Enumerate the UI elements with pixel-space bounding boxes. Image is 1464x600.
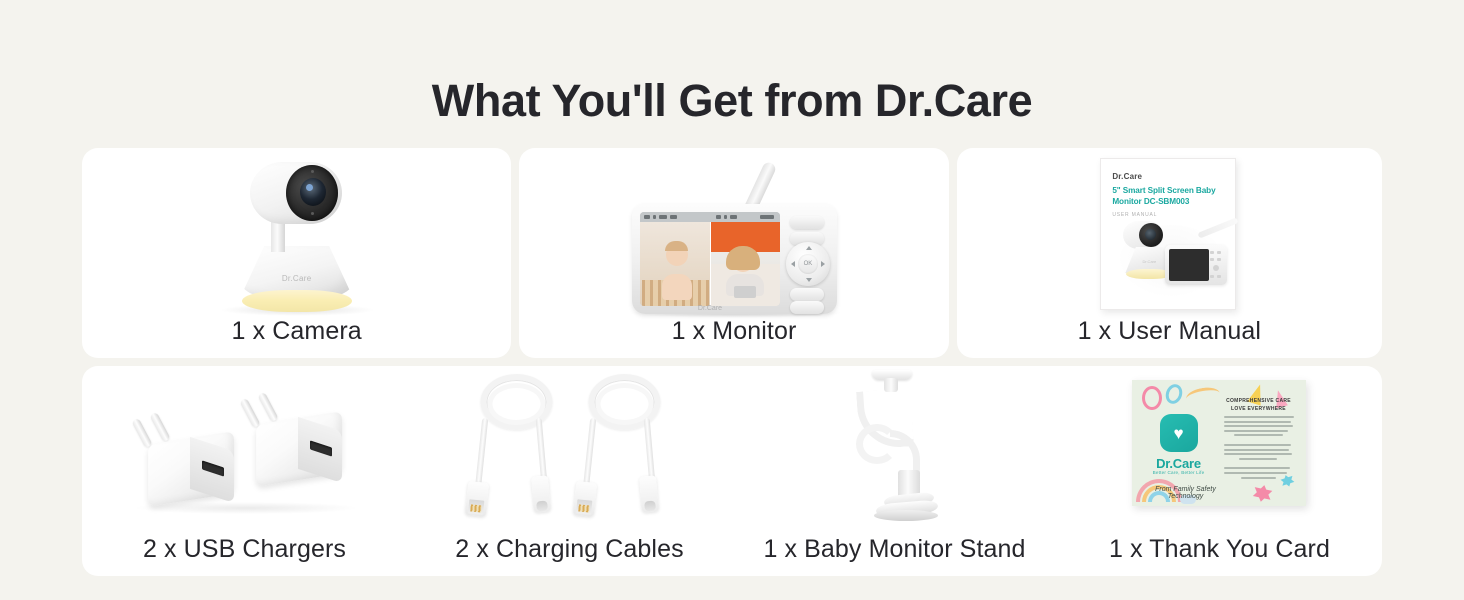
usb-gold-contacts [470,504,482,512]
manual-camera-lens [1139,223,1163,247]
user-manual-illustration: Dr.Care 5" Smart Split Screen Baby Monit… [957,148,1382,317]
balloon-doodle-icon [1142,386,1162,410]
cable-run-right [535,418,547,484]
camera-mic-dot [311,170,314,173]
product-card-accessories: 2 x USB Chargers [82,366,1382,576]
monitor-brand-label: Dr.Care [640,305,780,312]
cable-run-left [474,418,487,490]
product-card-monitor[interactable]: Dr.Care OK 1 x Monitor [519,148,948,358]
monitor-illustration: Dr.Care OK [519,148,948,317]
star-doodle-icon [1252,483,1272,499]
thank-you-card-headline: COMPREHENSIVE CARE LOVE EVERYWHERE [1220,398,1298,413]
usb-c-connector [638,475,658,512]
thank-you-card-illustration: ♥ Dr.Care Better Care, Better Life From … [1057,366,1382,535]
caption-camera: 1 x Camera [232,317,362,358]
caption-usb-chargers: 2 x USB Chargers [143,535,346,576]
battery-icon-2 [724,215,727,219]
tablet-prop [734,286,756,298]
manual-monitor-buttons [1210,251,1223,279]
manual-monitor-antenna [1198,217,1239,238]
cable-run-right [643,418,655,484]
monitor-button-menu[interactable] [790,216,824,229]
signal-icon-2 [716,215,721,219]
usb-charger-1 [130,410,234,506]
child-hair [726,246,760,270]
camera-brand-label: Dr.Care [212,274,382,283]
thank-you-card-body-text [1224,416,1294,481]
charging-cables-illustration [407,366,732,535]
manual-camera-head [1123,221,1163,249]
charging-cable-2 [570,372,670,522]
usb-gold-contacts [578,504,590,512]
monitor-feed-left [640,222,710,306]
baby-body [662,274,692,300]
plug-prong-icon [239,398,260,428]
dpad-right-icon[interactable] [821,261,825,267]
clock-readout [760,215,774,219]
manual-monitor [1165,245,1227,285]
signal-icon [644,215,650,219]
dr-care-app-icon: ♥ [1160,414,1198,452]
squiggle-doodle-icon [1184,385,1220,407]
cable-run-left [582,418,595,490]
baby-hair [665,241,688,251]
product-card-user-manual[interactable]: Dr.Care 5" Smart Split Screen Baby Monit… [957,148,1382,358]
screen-divider [710,222,711,306]
dpad-left-icon[interactable] [791,261,795,267]
camera-sensor-dot [311,212,314,215]
usb-charger-2 [238,390,342,486]
manual-brand-label: Dr.Care [1112,172,1142,181]
monitor-ok-button[interactable]: OK [798,254,818,274]
caption-charging-cables: 2 x Charging Cables [455,535,683,576]
monitor-status-bar [640,212,780,222]
monitor-feed-right [710,222,780,306]
caption-thank-you-card: 1 x Thank You Card [1109,535,1330,576]
usb-a-connector [572,481,596,517]
manual-monitor-screen [1169,249,1209,281]
manual-title: 5" Smart Split Screen Baby Monitor DC-SB… [1112,185,1228,207]
volume-icon [659,215,667,219]
charging-cable-1 [462,372,562,522]
thank-you-card-tagline: Better Care, Better Life [1140,470,1218,475]
caption-monitor: 1 x Monitor [672,317,797,358]
product-cell-charging-cables[interactable]: 2 x Charging Cables [407,366,732,576]
thank-you-card-face: ♥ Dr.Care Better Care, Better Life From … [1132,380,1306,506]
camera-lens-glint [306,184,313,191]
usb-a-connector [464,481,488,517]
camera-illustration: Dr.Care [82,148,511,317]
usb-c-connector [530,475,550,512]
product-card-camera[interactable]: Dr.Care 1 x Camera [82,148,511,358]
balloon-doodle-icon [1163,382,1185,406]
thank-you-card-brand: Dr.Care [1140,456,1218,471]
stand-base-foot [874,510,938,521]
dpad-down-icon[interactable] [806,278,812,282]
plug-prong-icon [149,412,170,442]
baby-monitor-stand-illustration [732,366,1057,535]
usb-chargers-illustration [82,366,407,535]
monitor-screen-bezel [640,212,780,306]
battery-icon [653,215,656,219]
monitor-body: Dr.Care OK [632,204,837,314]
monitor-button-power[interactable] [790,301,824,314]
dpad-up-icon[interactable] [806,246,812,250]
caption-baby-monitor-stand: 1 x Baby Monitor Stand [763,535,1025,576]
manual-subtitle: USER MANUAL [1112,212,1157,218]
thank-you-card-script-line: From Family Safety Technology [1144,486,1228,500]
page-title: What You'll Get from Dr.Care [0,0,1464,123]
product-cell-usb-chargers[interactable]: 2 x USB Chargers [82,366,407,576]
plug-prong-icon [257,392,278,422]
volume-icon-2 [730,215,737,219]
monitor-dpad[interactable]: OK [786,242,830,286]
monitor-button-talk[interactable] [790,288,824,301]
camera-night-light-glow [242,290,352,312]
manual-cover: Dr.Care 5" Smart Split Screen Baby Monit… [1100,158,1236,310]
mode-icon [670,215,677,219]
product-cell-baby-monitor-stand[interactable]: 1 x Baby Monitor Stand [732,366,1057,576]
camera-lens [300,178,326,206]
product-cell-thank-you-card[interactable]: ♥ Dr.Care Better Care, Better Life From … [1057,366,1382,576]
product-row-bottom: 2 x USB Chargers [82,366,1382,576]
product-row-top: Dr.Care 1 x Camera [82,148,1382,358]
camera-head [250,162,342,224]
plug-prong-icon [131,418,152,448]
caption-user-manual: 1 x User Manual [1078,317,1262,358]
heart-icon: ♥ [1173,425,1183,442]
